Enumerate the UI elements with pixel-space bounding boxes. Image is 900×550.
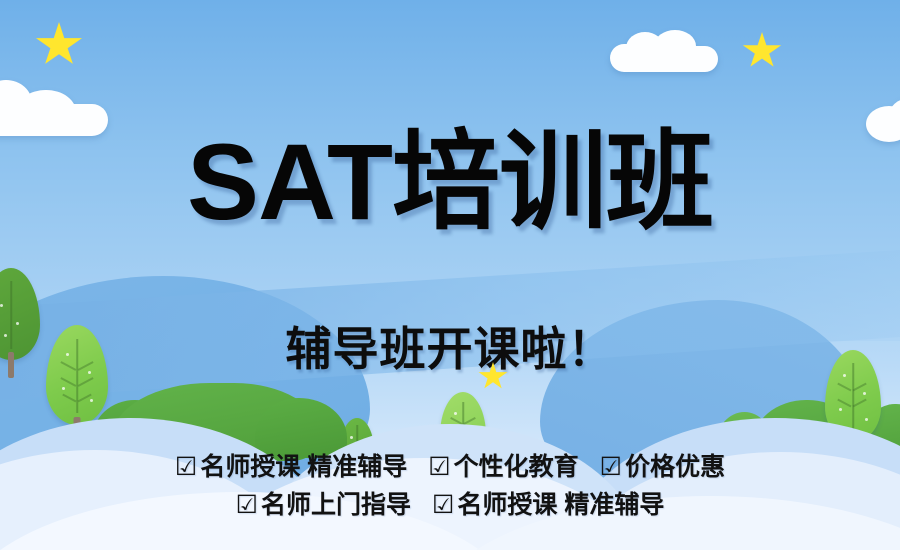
feature-label: 名师上门指导 (261, 491, 411, 519)
feature-item: ☑名师授课 精准辅导 (432, 486, 664, 524)
page-subtitle: 辅导班开课啦！ (0, 326, 900, 372)
feature-item: ☑名师上门指导 (236, 486, 411, 524)
checkbox-checked-icon: ☑ (236, 491, 258, 519)
poster-canvas: SAT培训班 辅导班开课啦！ ☑名师授课 精准辅导 ☑个性化教育 ☑价格优惠 ☑… (0, 0, 900, 550)
feature-item: ☑名师授课 精准辅导 (175, 448, 407, 486)
feature-label: 价格优惠 (625, 453, 725, 481)
checkbox-checked-icon: ☑ (175, 453, 197, 481)
feature-item: ☑价格优惠 (600, 448, 725, 486)
checkbox-checked-icon: ☑ (600, 453, 622, 481)
feature-label: 个性化教育 (454, 453, 579, 481)
feature-row: ☑名师上门指导 ☑名师授课 精准辅导 (0, 486, 900, 524)
feature-label: 名师授课 精准辅导 (457, 491, 664, 519)
feature-row: ☑名师授课 精准辅导 ☑个性化教育 ☑价格优惠 (0, 448, 900, 486)
feature-label: 名师授课 精准辅导 (200, 453, 407, 481)
page-title: SAT培训班 (0, 128, 900, 236)
feature-list: ☑名师授课 精准辅导 ☑个性化教育 ☑价格优惠 ☑名师上门指导 ☑名师授课 精准… (0, 448, 900, 524)
cloud-icon (0, 78, 116, 134)
cloud-icon (610, 30, 722, 72)
feature-item: ☑个性化教育 (428, 448, 578, 486)
checkbox-checked-icon: ☑ (432, 491, 454, 519)
checkbox-checked-icon: ☑ (428, 453, 450, 481)
